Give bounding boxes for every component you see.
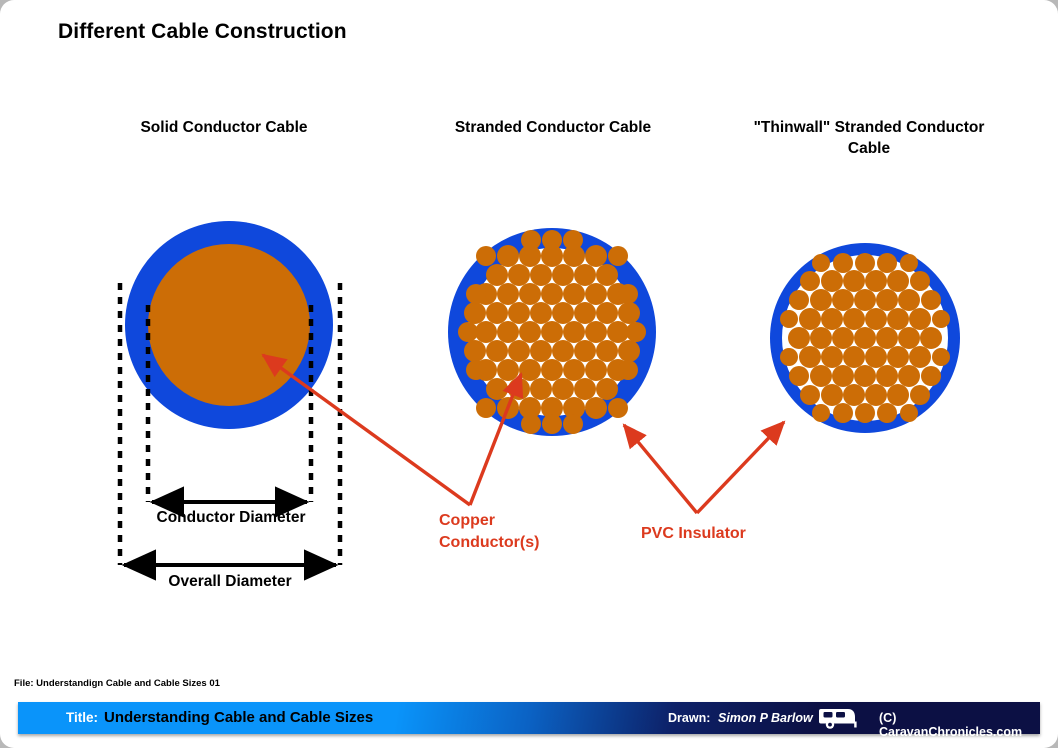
caravan-icon — [818, 706, 858, 730]
stranded-copper-strands — [458, 230, 646, 434]
cable-heading-thinwall: "Thinwall" Stranded Conductor Cable — [742, 118, 996, 160]
annotation-copper-conductors: Copper Conductor(s) — [439, 510, 619, 553]
leader-pvc-to-stranded — [624, 425, 697, 513]
cable-diagram-canvas — [0, 0, 1058, 748]
dimension-label-overall-diameter: Overall Diameter — [110, 573, 350, 591]
title-block-copyright: (C) CaravanChronicles.com — [879, 711, 1040, 739]
cable-heading-stranded: Stranded Conductor Cable — [433, 118, 673, 139]
annotation-pvc-insulator: PVC Insulator — [641, 523, 831, 545]
page-title: Different Cable Construction — [58, 20, 347, 44]
title-block-title-key: Title: — [66, 710, 98, 725]
diagram-page: Different Cable Construction Solid Condu… — [0, 0, 1058, 748]
thinwall-stranded-cable — [770, 243, 960, 433]
annotation-copper-line1: Copper — [439, 510, 619, 532]
title-block-drawn-value: Simon P Barlow — [718, 711, 813, 725]
title-block-title-value: Understanding Cable and Cable Sizes — [104, 709, 373, 726]
cable-heading-solid: Solid Conductor Cable — [104, 118, 344, 139]
solid-copper-core — [148, 244, 310, 406]
file-note: File: Understandign Cable and Cable Size… — [14, 678, 220, 689]
title-block: Title: Understanding Cable and Cable Siz… — [18, 702, 1040, 734]
dimension-label-conductor-diameter: Conductor Diameter — [125, 509, 337, 527]
leader-pvc-to-thinwall — [697, 422, 784, 513]
leader-copper-to-solid — [263, 355, 470, 505]
solid-conductor-cable — [125, 221, 333, 429]
title-block-drawn-key: Drawn: — [668, 711, 710, 725]
annotation-copper-line2: Conductor(s) — [439, 532, 619, 554]
stranded-conductor-cable — [448, 228, 656, 436]
